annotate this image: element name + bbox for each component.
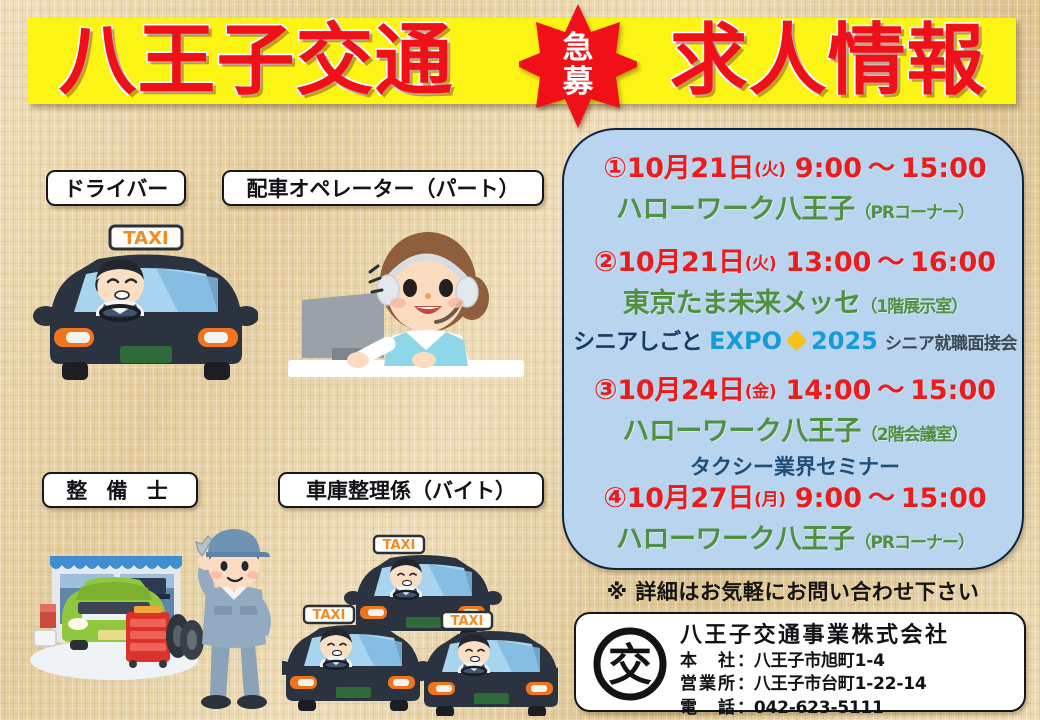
company-row-head-office-key: 本 社	[680, 651, 737, 671]
schedule-entry-2-date: 10月21日	[617, 247, 744, 278]
schedule-entry-1-date: 10月21日	[627, 153, 754, 184]
schedule-entry-4-venue-line: ハローワーク八王子（PRコーナー）	[564, 517, 1026, 556]
svg-text:交: 交	[608, 640, 652, 691]
schedule-entry-3-tilde: 〜	[871, 375, 910, 406]
dispatch-operator-illustration	[288, 208, 524, 398]
schedule-entry-1-start: 9:00	[795, 153, 862, 184]
title-right-text: 求人情報	[670, 13, 986, 109]
schedule-entry-2-venue: 東京たま未来メッセ	[623, 288, 861, 319]
schedule-entry-4-end: 15:00	[901, 483, 987, 514]
schedule-entry-1-dow: (火)	[754, 160, 786, 180]
urgent-star-badge	[519, 2, 637, 130]
contact-note: ※ 詳細はお気軽にお問い合わせ下さい	[562, 576, 1024, 606]
schedule-entry-1-header: ①10月21日(火) 9:00〜15:00	[564, 146, 1026, 185]
schedule-entry-2-marker: ②	[594, 245, 617, 278]
schedule-entry-4-header: ④10月27日(月) 9:00〜15:00	[564, 476, 1026, 515]
schedule-entry-4-tilde: 〜	[862, 483, 901, 514]
job-pill-garage: 車庫整理係（バイト）	[278, 472, 544, 508]
schedule-entry-2-end: 16:00	[910, 247, 996, 278]
schedule-entry-2-start: 13:00	[785, 247, 871, 278]
expo-year: 2025	[811, 327, 878, 355]
company-row-phone-value: 042-623-5111	[754, 698, 884, 718]
schedule-entry-1-end: 15:00	[901, 153, 987, 184]
schedule-entry-3-marker: ③	[594, 373, 617, 406]
schedule-entry-3-dow: (金)	[745, 382, 777, 402]
taxi-fleet-illustration: TAXI	[282, 520, 558, 716]
schedule-entry-2-venue-sub: （1階展示室）	[860, 297, 967, 317]
schedule-entry-3-date: 10月24日	[617, 375, 744, 406]
schedule-entry-1-venue-sub: （PRコーナー）	[854, 203, 974, 223]
company-row-branch-value: 八王子市台町1-22-14	[754, 674, 927, 694]
job-pill-driver: ドライバー	[46, 170, 186, 206]
expo-wordmark: EXPO	[709, 327, 782, 355]
job-pill-operator-label: 配車オペレーター（パート）	[247, 173, 520, 203]
schedule-entry-1-marker: ①	[603, 151, 626, 184]
expo-prefix-text: シニアしごと	[573, 324, 702, 356]
schedule-panel: ①10月21日(火) 9:00〜15:00 ハローワーク八王子（PRコーナー） …	[562, 128, 1024, 570]
company-name: 八王子交通事業株式会社	[680, 622, 1020, 650]
company-text-block: 八王子交通事業株式会社 本 社：八王子市旭町1-4 営業所：八王子市台町1-22…	[680, 622, 1020, 720]
schedule-entry-4-date: 10月27日	[627, 483, 754, 514]
schedule-entry-1-venue: ハローワーク八王子	[616, 194, 855, 225]
schedule-entry-4-marker: ④	[603, 481, 626, 514]
schedule-entry-2-dow: (火)	[745, 254, 777, 274]
expo-event-line: シニアしごと EXPO 2025 シニア就職面接会	[564, 324, 1026, 356]
company-row-phone-sep: ：	[737, 698, 754, 718]
schedule-entry-3-start: 14:00	[785, 375, 871, 406]
svg-text:TAXI: TAXI	[123, 228, 168, 249]
company-row-phone: 電 話：042-623-5111	[680, 697, 1020, 720]
company-row-branch-key: 営業所	[680, 674, 737, 694]
taxi-driver-illustration: TAXI	[28, 212, 258, 397]
company-row-branch-sep: ：	[737, 674, 754, 694]
job-recruitment-poster: 八王子交通求人情報 急 募 ドライバー 配車オペレーター（パート） 整 備 士 …	[0, 0, 1040, 720]
schedule-entry-2-venue-line: 東京たま未来メッセ（1階展示室）	[564, 281, 1026, 320]
circle-kou-logo-icon: 交	[592, 626, 668, 702]
schedule-entry-4-venue: ハローワーク八王子	[616, 524, 855, 555]
job-pill-mechanic-label: 整 備 士	[66, 475, 174, 505]
job-pill-mechanic: 整 備 士	[42, 472, 198, 508]
company-row-head-office-sep: ：	[737, 651, 754, 671]
schedule-entry-1: ①10月21日(火) 9:00〜15:00 ハローワーク八王子（PRコーナー）	[564, 146, 1026, 226]
schedule-entry-4-start: 9:00	[795, 483, 862, 514]
schedule-entry-3: ③10月24日(金) 14:00〜15:00 ハローワーク八王子（2階会議室） …	[564, 368, 1026, 481]
job-pill-driver-label: ドライバー	[64, 173, 169, 203]
company-info-card: 交 八王子交通事業株式会社 本 社：八王子市旭町1-4 営業所：八王子市台町1-…	[574, 612, 1026, 712]
schedule-entry-2-tilde: 〜	[871, 247, 910, 278]
schedule-entry-2: ②10月21日(火) 13:00〜16:00 東京たま未来メッセ（1階展示室） …	[564, 240, 1026, 356]
schedule-entry-4-dow: (月)	[754, 490, 786, 510]
schedule-entry-3-venue-sub: （2階会議室）	[861, 425, 968, 445]
title-left-text: 八王子交通	[58, 13, 453, 109]
schedule-entry-3-venue-line: ハローワーク八王子（2階会議室）	[564, 409, 1026, 448]
schedule-entry-3-venue: ハローワーク八王子	[622, 416, 861, 447]
job-pill-operator: 配車オペレーター（パート）	[222, 170, 544, 206]
schedule-entry-3-header: ③10月24日(金) 14:00〜15:00	[564, 368, 1026, 407]
company-row-branch: 営業所：八王子市台町1-22-14	[680, 673, 1020, 696]
gold-diamond-icon	[786, 330, 807, 351]
schedule-entry-4-venue-sub: （PRコーナー）	[854, 533, 974, 553]
schedule-entry-1-venue-line: ハローワーク八王子（PRコーナー）	[564, 187, 1026, 226]
schedule-entry-2-header: ②10月21日(火) 13:00〜16:00	[564, 240, 1026, 279]
job-pill-garage-label: 車庫整理係（バイト）	[306, 475, 516, 505]
schedule-entry-3-end: 15:00	[910, 375, 996, 406]
mechanic-garage-illustration	[26, 520, 278, 716]
expo-suffix-text: シニア就職面接会	[885, 329, 1017, 354]
company-row-head-office: 本 社：八王子市旭町1-4	[680, 650, 1020, 673]
company-row-phone-key: 電 話	[680, 698, 737, 718]
schedule-entry-4: ④10月27日(月) 9:00〜15:00 ハローワーク八王子（PRコーナー）	[564, 476, 1026, 556]
schedule-entry-1-tilde: 〜	[862, 153, 901, 184]
company-row-head-office-value: 八王子市旭町1-4	[754, 651, 885, 671]
